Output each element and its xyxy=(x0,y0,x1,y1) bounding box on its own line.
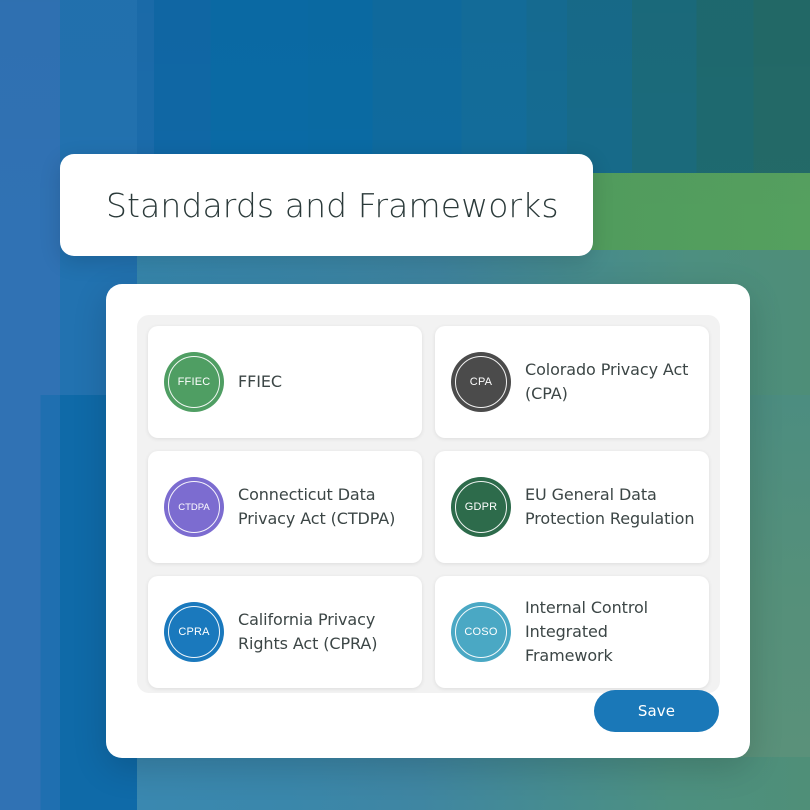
framework-badge-abbr: GDPR xyxy=(465,501,498,513)
save-button[interactable]: Save xyxy=(594,690,719,732)
framework-badge-abbr: COSO xyxy=(464,626,497,638)
page-title: Standards and Frameworks xyxy=(60,186,559,225)
framework-label: California Privacy Rights Act (CPRA) xyxy=(238,608,408,656)
framework-card[interactable]: GDPREU General Data Protection Regulatio… xyxy=(435,451,709,563)
framework-badge-icon: COSO xyxy=(451,602,511,662)
framework-label: Connecticut Data Privacy Act (CTDPA) xyxy=(238,483,408,531)
frameworks-grid: FFIECFFIECCPAColorado Privacy Act (CPA)C… xyxy=(148,326,709,688)
framework-badge-abbr: CTDPA xyxy=(178,502,210,513)
frameworks-list-container: FFIECFFIECCPAColorado Privacy Act (CPA)C… xyxy=(137,315,720,693)
framework-card[interactable]: COSOInternal Control Integrated Framewor… xyxy=(435,576,709,688)
framework-label: Colorado Privacy Act (CPA) xyxy=(525,358,695,406)
framework-badge-icon: CPA xyxy=(451,352,511,412)
frameworks-panel: FFIECFFIECCPAColorado Privacy Act (CPA)C… xyxy=(106,284,750,758)
panel-footer: Save xyxy=(594,690,719,732)
framework-label: Internal Control Integrated Framework xyxy=(525,596,695,668)
framework-badge-abbr: CPRA xyxy=(178,626,209,638)
framework-badge-icon: FFIEC xyxy=(164,352,224,412)
page-title-card: Standards and Frameworks xyxy=(60,154,593,256)
framework-badge-abbr: CPA xyxy=(470,376,492,388)
framework-label: EU General Data Protection Regulation xyxy=(525,483,695,531)
framework-badge-icon: CTDPA xyxy=(164,477,224,537)
framework-card[interactable]: CTDPAConnecticut Data Privacy Act (CTDPA… xyxy=(148,451,422,563)
framework-card[interactable]: CPRACalifornia Privacy Rights Act (CPRA) xyxy=(148,576,422,688)
framework-card[interactable]: CPAColorado Privacy Act (CPA) xyxy=(435,326,709,438)
framework-badge-abbr: FFIEC xyxy=(178,376,211,388)
framework-label: FFIEC xyxy=(238,370,282,394)
framework-card[interactable]: FFIECFFIEC xyxy=(148,326,422,438)
framework-badge-icon: GDPR xyxy=(451,477,511,537)
framework-badge-icon: CPRA xyxy=(164,602,224,662)
